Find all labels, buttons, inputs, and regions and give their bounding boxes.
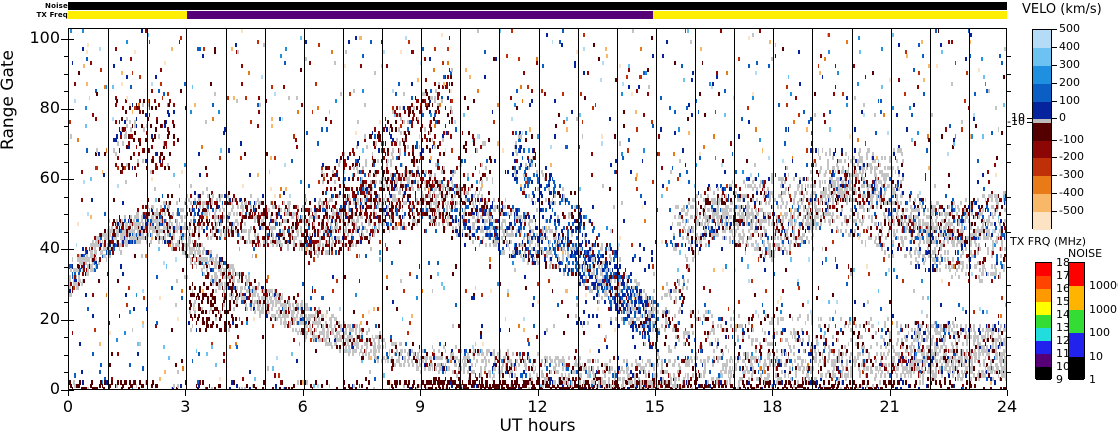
scatter-cell — [94, 268, 96, 272]
scatter-cell — [241, 321, 243, 325]
scatter-cell — [272, 366, 274, 370]
scatter-cell — [332, 229, 334, 233]
scatter-cell — [151, 236, 153, 240]
scatter-cell — [348, 352, 350, 356]
scatter-cell — [201, 261, 203, 265]
scatter-cell — [437, 363, 439, 367]
scatter-cell — [283, 229, 285, 233]
scatter-cell — [334, 61, 336, 65]
scatter-cell — [296, 314, 298, 318]
status-segment — [68, 11, 187, 19]
scatter-cell — [250, 120, 252, 124]
scatter-cell — [364, 134, 366, 138]
scatter-cell — [400, 131, 402, 135]
scatter-cell — [395, 92, 397, 96]
scatter-cell — [248, 215, 250, 219]
scatter-cell — [253, 303, 255, 307]
scatter-cell — [249, 293, 251, 297]
scatter-cell — [175, 247, 177, 251]
scatter-cell — [404, 359, 406, 363]
scatter-cell — [207, 286, 209, 290]
scatter-cell — [139, 99, 141, 103]
scatter-cell — [308, 184, 310, 188]
scatter-cell — [412, 384, 414, 388]
scatter-cell — [124, 120, 126, 124]
scatter-cell — [392, 387, 394, 390]
scatter-cell — [322, 314, 324, 318]
scatter-cell — [399, 106, 401, 110]
scatter-cell — [190, 194, 192, 198]
scatter-cell — [233, 380, 235, 384]
scatter-cell — [386, 275, 388, 279]
scatter-cell — [317, 254, 319, 258]
scatter-cell — [450, 377, 452, 381]
scatter-cell — [305, 250, 307, 254]
scatter-cell — [366, 387, 368, 390]
scatter-cell — [398, 82, 400, 86]
scatter-cell — [372, 152, 374, 156]
scatter-cell — [293, 338, 295, 342]
scatter-cell — [392, 156, 394, 160]
scatter-cell — [428, 208, 430, 212]
scatter-cell — [262, 194, 264, 198]
scatter-cell — [370, 356, 372, 360]
scatter-cell — [347, 212, 349, 216]
scatter-cell — [164, 212, 166, 216]
scatter-cell — [283, 191, 285, 195]
scatter-cell — [220, 233, 222, 237]
scatter-cell — [368, 205, 370, 209]
scatter-cell — [271, 117, 273, 121]
scatter-cell — [239, 247, 241, 251]
scatter-cell — [270, 317, 272, 321]
scatter-cell — [163, 156, 165, 160]
scatter-cell — [270, 156, 272, 160]
scatter-cell — [299, 247, 301, 251]
scatter-cell — [375, 349, 377, 353]
scatter-cell — [379, 257, 381, 261]
scatter-cell — [405, 36, 407, 40]
scatter-cell — [404, 110, 406, 114]
scatter-cell — [434, 380, 436, 384]
scatter-cell — [78, 71, 80, 75]
scatter-cell — [259, 314, 261, 318]
scatter-cell — [192, 359, 194, 363]
scatter-cell — [220, 148, 222, 152]
scatter-cell — [210, 307, 212, 311]
scatter-cell — [389, 201, 391, 205]
scatter-cell — [142, 366, 144, 370]
scatter-cell — [122, 243, 124, 247]
scatter-cell — [390, 163, 392, 167]
scatter-cell — [437, 194, 439, 198]
scatter-cell — [411, 103, 413, 107]
scatter-cell — [435, 387, 437, 390]
scatter-cell — [365, 254, 367, 258]
scatter-cell — [405, 134, 407, 138]
scatter-cell — [215, 363, 217, 367]
scatter-cell — [432, 194, 434, 198]
scatter-cell — [202, 380, 204, 384]
scatter-cell — [323, 331, 325, 335]
scatter-cell — [155, 236, 157, 240]
scatter-cell — [338, 177, 340, 181]
scatter-cell — [115, 138, 117, 142]
scatter-cell — [383, 373, 385, 377]
status-segment — [187, 11, 653, 19]
scatter-cell — [325, 243, 327, 247]
scatter-cell — [441, 33, 443, 37]
scatter-cell — [122, 272, 124, 276]
scatter-cell — [407, 145, 409, 149]
scatter-cell — [96, 387, 98, 390]
scatter-cell — [117, 233, 119, 237]
scatter-cell — [428, 103, 430, 107]
scatter-cell — [96, 264, 98, 268]
scatter-cell — [252, 296, 254, 300]
scatter-cell — [334, 173, 336, 177]
scatter-cell — [120, 243, 122, 247]
scatter-cell — [379, 250, 381, 254]
scatter-cell — [138, 152, 140, 156]
scatter-cell — [206, 212, 208, 216]
scatter-cell — [300, 180, 302, 184]
scatter-cell — [322, 163, 324, 167]
scatter-cell — [203, 264, 205, 268]
scatter-cell — [400, 363, 402, 367]
scatter-cell — [326, 380, 328, 384]
scatter-cell — [338, 194, 340, 198]
scatter-cell — [267, 366, 269, 370]
scatter-cell — [130, 57, 132, 61]
scatter-cell — [315, 349, 317, 353]
scatter-cell — [280, 321, 282, 325]
scatter-cell — [310, 247, 312, 251]
scatter-cell — [464, 96, 466, 100]
scatter-cell — [386, 286, 388, 290]
scatter-cell — [74, 373, 76, 377]
scatter-cell — [257, 173, 259, 177]
scatter-cell — [151, 106, 153, 110]
scatter-cell — [451, 236, 453, 240]
scatter-cell — [347, 233, 349, 237]
scatter-cell — [349, 201, 351, 205]
scatter-cell — [446, 194, 448, 198]
scatter-cell — [357, 215, 359, 219]
scatter-cell — [439, 141, 441, 145]
scatter-cell — [416, 275, 418, 279]
scatter-cell — [362, 148, 364, 152]
scatter-cell — [360, 64, 362, 68]
scatter-cell — [250, 226, 252, 230]
scatter-cell — [357, 177, 359, 181]
scatter-cell — [236, 345, 238, 349]
scatter-cell — [329, 243, 331, 247]
scatter-cell — [214, 300, 216, 304]
scatter-cell — [288, 310, 290, 314]
scatter-cell — [439, 342, 441, 346]
scatter-cell — [370, 134, 372, 138]
scatter-cell — [272, 300, 274, 304]
scatter-cell — [349, 247, 351, 251]
scatter-cell — [411, 226, 413, 230]
scatter-cell — [98, 152, 100, 156]
scatter-cell — [126, 96, 128, 100]
scatter-cell — [318, 247, 320, 251]
scatter-cell — [455, 345, 457, 349]
scatter-cell — [445, 177, 447, 181]
scatter-cell — [417, 78, 419, 82]
scatter-cell — [400, 124, 402, 128]
scatter-cell — [321, 127, 323, 131]
scatter-cell — [404, 145, 406, 149]
scatter-cell — [158, 247, 160, 251]
scatter-cell — [355, 243, 357, 247]
scatter-cell — [115, 47, 117, 51]
scatter-cell — [227, 310, 229, 314]
scatter-cell — [223, 352, 225, 356]
scatter-cell — [158, 134, 160, 138]
scatter-cell — [451, 384, 453, 388]
scatter-cell — [435, 229, 437, 233]
scatter-cell — [85, 387, 87, 390]
scatter-cell — [216, 254, 218, 258]
scatter-cell — [370, 212, 372, 216]
scatter-cell — [313, 240, 315, 244]
scatter-cell — [278, 208, 280, 212]
scatter-cell — [291, 387, 293, 390]
scatter-cell — [428, 387, 430, 390]
scatter-cell — [104, 240, 106, 244]
scatter-cell — [259, 300, 261, 304]
scatter-cell — [433, 68, 435, 72]
scatter-cell — [408, 113, 410, 117]
scatter-cell — [128, 166, 130, 170]
scatter-cell — [275, 205, 277, 209]
scatter-cell — [289, 324, 291, 328]
scatter-cell — [270, 215, 272, 219]
scatter-cell — [378, 226, 380, 230]
scatter-cell — [373, 233, 375, 237]
scatter-cell — [297, 222, 299, 226]
scatter-cell — [215, 317, 217, 321]
scatter-cell — [269, 170, 271, 174]
scatter-cell — [152, 159, 154, 163]
scatter-cell — [463, 113, 465, 117]
scatter-cell — [463, 215, 465, 219]
scatter-cell — [435, 366, 437, 370]
scatter-cell — [390, 219, 392, 223]
scatter-cell — [434, 134, 436, 138]
scatter-cell — [339, 219, 341, 223]
scatter-cell — [211, 387, 213, 390]
scatter-cell — [100, 243, 102, 247]
scatter-cell — [211, 201, 213, 205]
scatter-cell — [142, 324, 144, 328]
scatter-cell — [155, 127, 157, 131]
scatter-cell — [266, 152, 268, 156]
txfreq-bar-label: TX Freq — [14, 11, 68, 19]
scatter-cell — [242, 272, 244, 276]
scatter-cell — [167, 92, 169, 96]
scatter-cell — [196, 321, 198, 325]
scatter-cell — [322, 180, 324, 184]
scatter-cell — [454, 170, 456, 174]
scatter-cell — [197, 250, 199, 254]
scatter-cell — [438, 201, 440, 205]
scatter-cell — [261, 212, 263, 216]
scatter-cell — [235, 317, 237, 321]
scatter-cell — [293, 384, 295, 388]
scatter-cell — [454, 120, 456, 124]
scatter-cell — [347, 222, 349, 226]
scatter-cell — [379, 345, 381, 349]
scatter-cell — [357, 191, 359, 195]
scatter-cell — [125, 110, 127, 114]
scatter-cell — [366, 342, 368, 346]
scatter-cell — [283, 85, 285, 89]
scatter-cell — [137, 352, 139, 356]
scatter-cell — [190, 328, 192, 332]
scatter-cell — [365, 180, 367, 184]
scatter-cell — [271, 85, 273, 89]
scatter-cell — [387, 359, 389, 363]
scatter-cell — [214, 233, 216, 237]
scatter-cell — [120, 250, 122, 254]
scatter-cell — [139, 342, 141, 346]
scatter-cell — [454, 370, 456, 374]
scatter-cell — [359, 156, 361, 160]
scatter-cell — [389, 352, 391, 356]
scatter-cell — [129, 120, 131, 124]
scatter-cell — [394, 113, 396, 117]
scatter-cell — [92, 352, 94, 356]
scatter-cell — [173, 141, 175, 145]
scatter-cell — [164, 124, 166, 128]
scatter-cell — [430, 120, 432, 124]
scatter-cell — [387, 170, 389, 174]
scatter-cell — [362, 314, 364, 318]
scatter-cell — [158, 198, 160, 202]
scatter-cell — [321, 173, 323, 177]
scatter-cell — [132, 71, 134, 75]
scatter-cell — [270, 187, 272, 191]
scatter-cell — [82, 29, 84, 33]
scatter-cell — [128, 134, 130, 138]
scatter-cell — [241, 387, 243, 390]
scatter-cell — [81, 370, 83, 374]
scatter-cell — [424, 198, 426, 202]
scatter-cell — [203, 222, 205, 226]
scatter-cell — [318, 43, 320, 47]
scatter-cell — [288, 387, 290, 390]
scatter-cell — [378, 349, 380, 353]
scatter-cell — [452, 324, 454, 328]
scatter-cell — [240, 289, 242, 293]
scatter-cell — [442, 387, 444, 390]
scatter-cell — [132, 103, 134, 107]
scatter-cell — [159, 377, 161, 381]
scatter-cell — [198, 236, 200, 240]
scatter-cell — [291, 352, 293, 356]
scatter-cell — [300, 380, 302, 384]
scatter-cell — [416, 296, 418, 300]
scatter-cell — [353, 152, 355, 156]
scatter-cell — [99, 370, 101, 374]
scatter-cell — [409, 187, 411, 191]
range-time-plot[interactable] — [68, 28, 1007, 390]
scatter-cell — [206, 187, 208, 191]
scatter-cell — [449, 387, 451, 390]
scatter-cell — [198, 384, 200, 388]
scatter-cell — [394, 226, 396, 230]
scatter-cell — [373, 307, 375, 311]
scatter-cell — [412, 363, 414, 367]
scatter-cell — [83, 64, 85, 68]
scatter-cell — [259, 103, 261, 107]
scatter-cell — [287, 314, 289, 318]
scatter-cell — [322, 222, 324, 226]
scatter-cell — [402, 349, 404, 353]
scatter-cell — [403, 363, 405, 367]
scatter-cell — [450, 89, 452, 93]
scatter-cell — [171, 328, 173, 332]
scatter-cell — [317, 324, 319, 328]
scatter-cell — [392, 219, 394, 223]
scatter-cell — [336, 345, 338, 349]
scatter-cell — [120, 134, 122, 138]
scatter-cell — [400, 177, 402, 181]
scatter-cell — [199, 380, 201, 384]
scatter-cell — [209, 212, 211, 216]
scatter-cell — [434, 173, 436, 177]
scatter-cell — [450, 75, 452, 79]
scatter-cell — [361, 198, 363, 202]
scatter-cell — [152, 380, 154, 384]
scatter-cell — [323, 177, 325, 181]
scatter-cell — [199, 47, 201, 51]
scatter-cell — [437, 145, 439, 149]
scatter-cell — [126, 243, 128, 247]
scatter-cell — [119, 148, 121, 152]
scatter-cell — [368, 328, 370, 332]
scatter-cell — [111, 380, 113, 384]
scatter-cell — [385, 345, 387, 349]
scatter-cell — [137, 163, 139, 167]
scatter-cell — [160, 82, 162, 86]
scatter-cell — [198, 226, 200, 230]
scatter-cell — [348, 187, 350, 191]
scatter-cell — [417, 366, 419, 370]
scatter-cell — [387, 159, 389, 163]
scatter-cell — [223, 131, 225, 135]
scatter-cell — [280, 54, 282, 58]
scatter-cell — [272, 303, 274, 307]
scatter-cell — [335, 201, 337, 205]
scatter-cell — [456, 166, 458, 170]
scatter-cell — [257, 40, 259, 44]
scatter-cell — [374, 359, 376, 363]
scatter-cell — [321, 331, 323, 335]
scatter-cell — [202, 296, 204, 300]
scatter-cell — [282, 243, 284, 247]
scatter-cell — [198, 296, 200, 300]
scatter-cell — [141, 215, 143, 219]
scatter-cell — [139, 75, 141, 79]
scatter-cell — [82, 272, 84, 276]
scatter-cell — [166, 145, 168, 149]
scatter-cell — [128, 286, 130, 290]
